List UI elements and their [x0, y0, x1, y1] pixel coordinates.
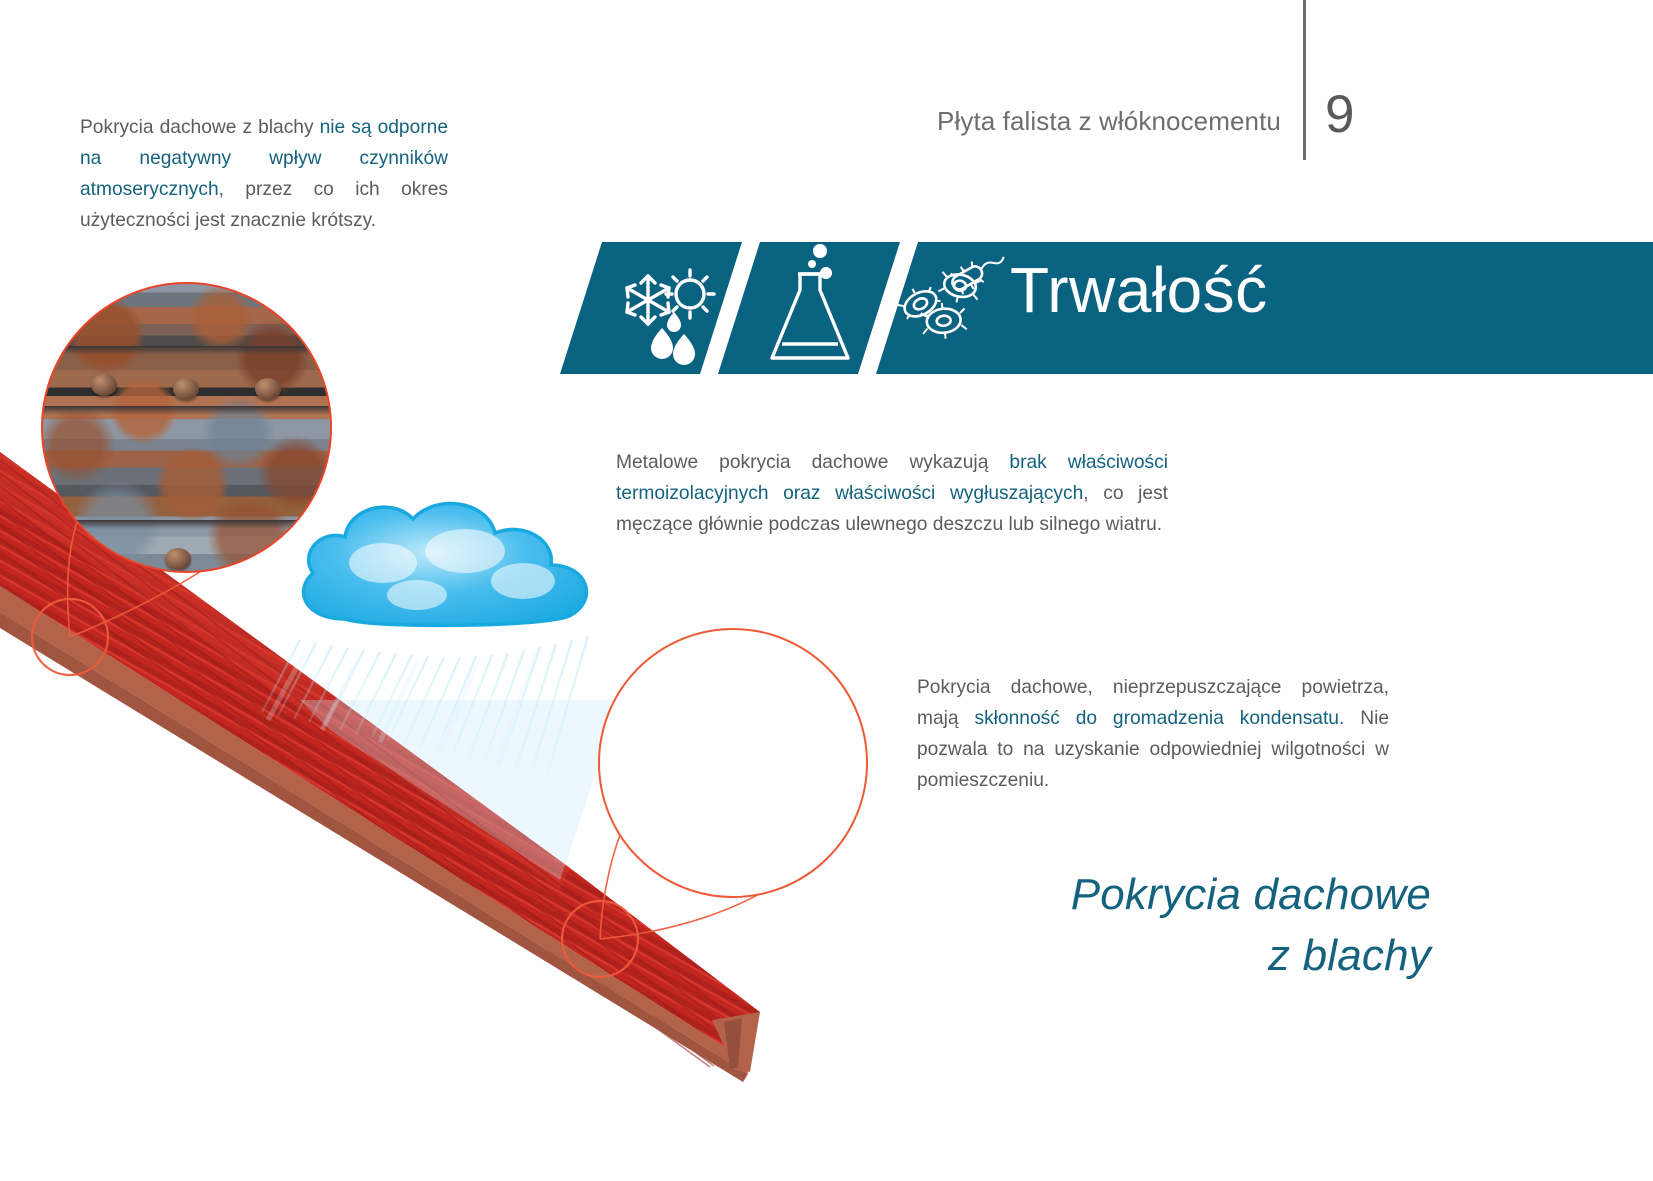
banner-segment-1 — [560, 242, 742, 374]
paragraph-condensation: Pokrycia dachowe, nieprzepuszczające pow… — [917, 672, 1389, 796]
rivet-icon — [91, 374, 117, 396]
condensation-detail-frame — [598, 628, 868, 898]
banner-title: Trwałość — [1010, 258, 1268, 322]
section-banner — [0, 242, 1653, 374]
paragraph-metal-weathering: Pokrycia dachowe z blachy nie są odporne… — [80, 112, 448, 236]
rain-cloud — [287, 497, 602, 657]
closing-title: Pokrycia dachowe z blachy — [791, 865, 1431, 986]
closing-title-line-2: z blachy — [791, 926, 1431, 987]
par-top-before: Pokrycia dachowe z blachy — [80, 117, 320, 138]
par-mid-before: Metalowe pokrycia dachowe wykazują — [616, 452, 1009, 473]
rivet-icon — [173, 378, 199, 400]
paragraph-insulation-noise: Metalowe pokrycia dachowe wykazują brak … — [616, 447, 1168, 540]
par-right-highlight: skłonność do gromadzenia kondensatu. — [974, 708, 1344, 729]
rivet-icon — [255, 378, 281, 400]
rivet-icon — [165, 548, 191, 570]
closing-title-line-1: Pokrycia dachowe — [791, 865, 1431, 926]
